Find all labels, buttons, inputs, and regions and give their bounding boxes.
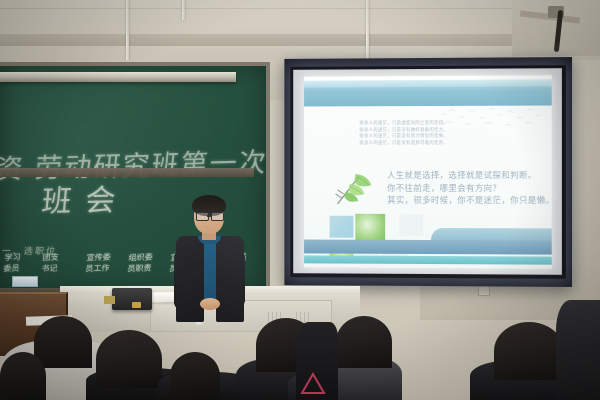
presenter-glasses-lens-right (211, 212, 224, 221)
blackboard-column: 学习 委员 (3, 252, 21, 275)
audience-member-head (336, 316, 392, 368)
screen-border-top (284, 57, 572, 70)
blackboard-column: 宣传委 员工作 (85, 252, 111, 275)
blackboard-divider-rail (0, 168, 254, 177)
slide-footer-band (304, 240, 552, 255)
projection-screen: 很多人的迷茫，只是虚度光阴之后的无措。 很多人的迷茫，只是没有做好准备的无力。 … (284, 57, 572, 287)
slide-secondary-text: 很多人的迷茫，只是虚度光阴之后的无措。 很多人的迷茫，只是没有做好准备的无力。 … (359, 121, 448, 148)
audience-member-head (170, 352, 220, 400)
document-camera-tab (104, 296, 115, 304)
presenter-hands (200, 298, 220, 310)
slide-thumbnail (330, 216, 354, 238)
ceiling-hanger-rod-mid (182, 0, 185, 20)
presentation-slide: 很多人的迷茫，只是虚度光阴之后的无措。 很多人的迷茫，只是没有做好准备的无力。 … (304, 75, 552, 268)
document-camera-lens (132, 302, 141, 308)
blackboard-light-rail (0, 72, 236, 82)
ceiling-panel-line (0, 8, 600, 9)
jacket-logo-icon (300, 372, 326, 396)
audience-member-head (0, 352, 46, 400)
chalk-tray-box (12, 276, 38, 287)
audience-member-head (494, 322, 564, 380)
slide-footer-curve (431, 228, 552, 240)
slide-thumbnail (399, 214, 423, 236)
presenter (170, 198, 250, 330)
audience-member-body (556, 300, 600, 400)
screen-border-right (562, 57, 572, 287)
presenter-glasses-lens-left (196, 212, 209, 221)
audience-member-head (96, 330, 162, 388)
slide-footer-accent (304, 255, 552, 264)
presenter-jacket-left (176, 236, 204, 322)
audience-member-head (34, 316, 92, 368)
slide-thumbnail (355, 214, 385, 241)
projection-screen-surface: 很多人的迷茫，只是虚度光阴之后的无措。 很多人的迷茫，只是没有做好准备的无力。 … (292, 67, 564, 277)
blackboard-column: 团支 书记 (41, 252, 59, 275)
presenter-glasses-bridge (207, 215, 211, 217)
ceiling-beam (0, 34, 600, 46)
blackboard-title-line-1: 资 劳动研究班第一次 (0, 140, 270, 186)
leaf-branch-graphic (334, 168, 378, 208)
slide-primary-text: 人生就是选择，选择就是试探和判断。 你不往前走，哪里会有方向？ 其实，很多时候，… (387, 169, 552, 207)
screen-border-bottom (284, 273, 572, 287)
screen-border-left (284, 59, 293, 285)
blackboard-column: 组织委 员职责 (127, 252, 153, 275)
bird-pattern-watermark (435, 106, 546, 130)
classroom-photo: 资 劳动研究班第一次 班 会 一、选职位 学习 委员 团支 书记 宣传委 员工作… (0, 0, 600, 400)
blackboard-title-line-2: 班 会 (40, 175, 120, 220)
slide-header-highlight (304, 79, 552, 87)
presenter-jacket-right (216, 236, 244, 322)
